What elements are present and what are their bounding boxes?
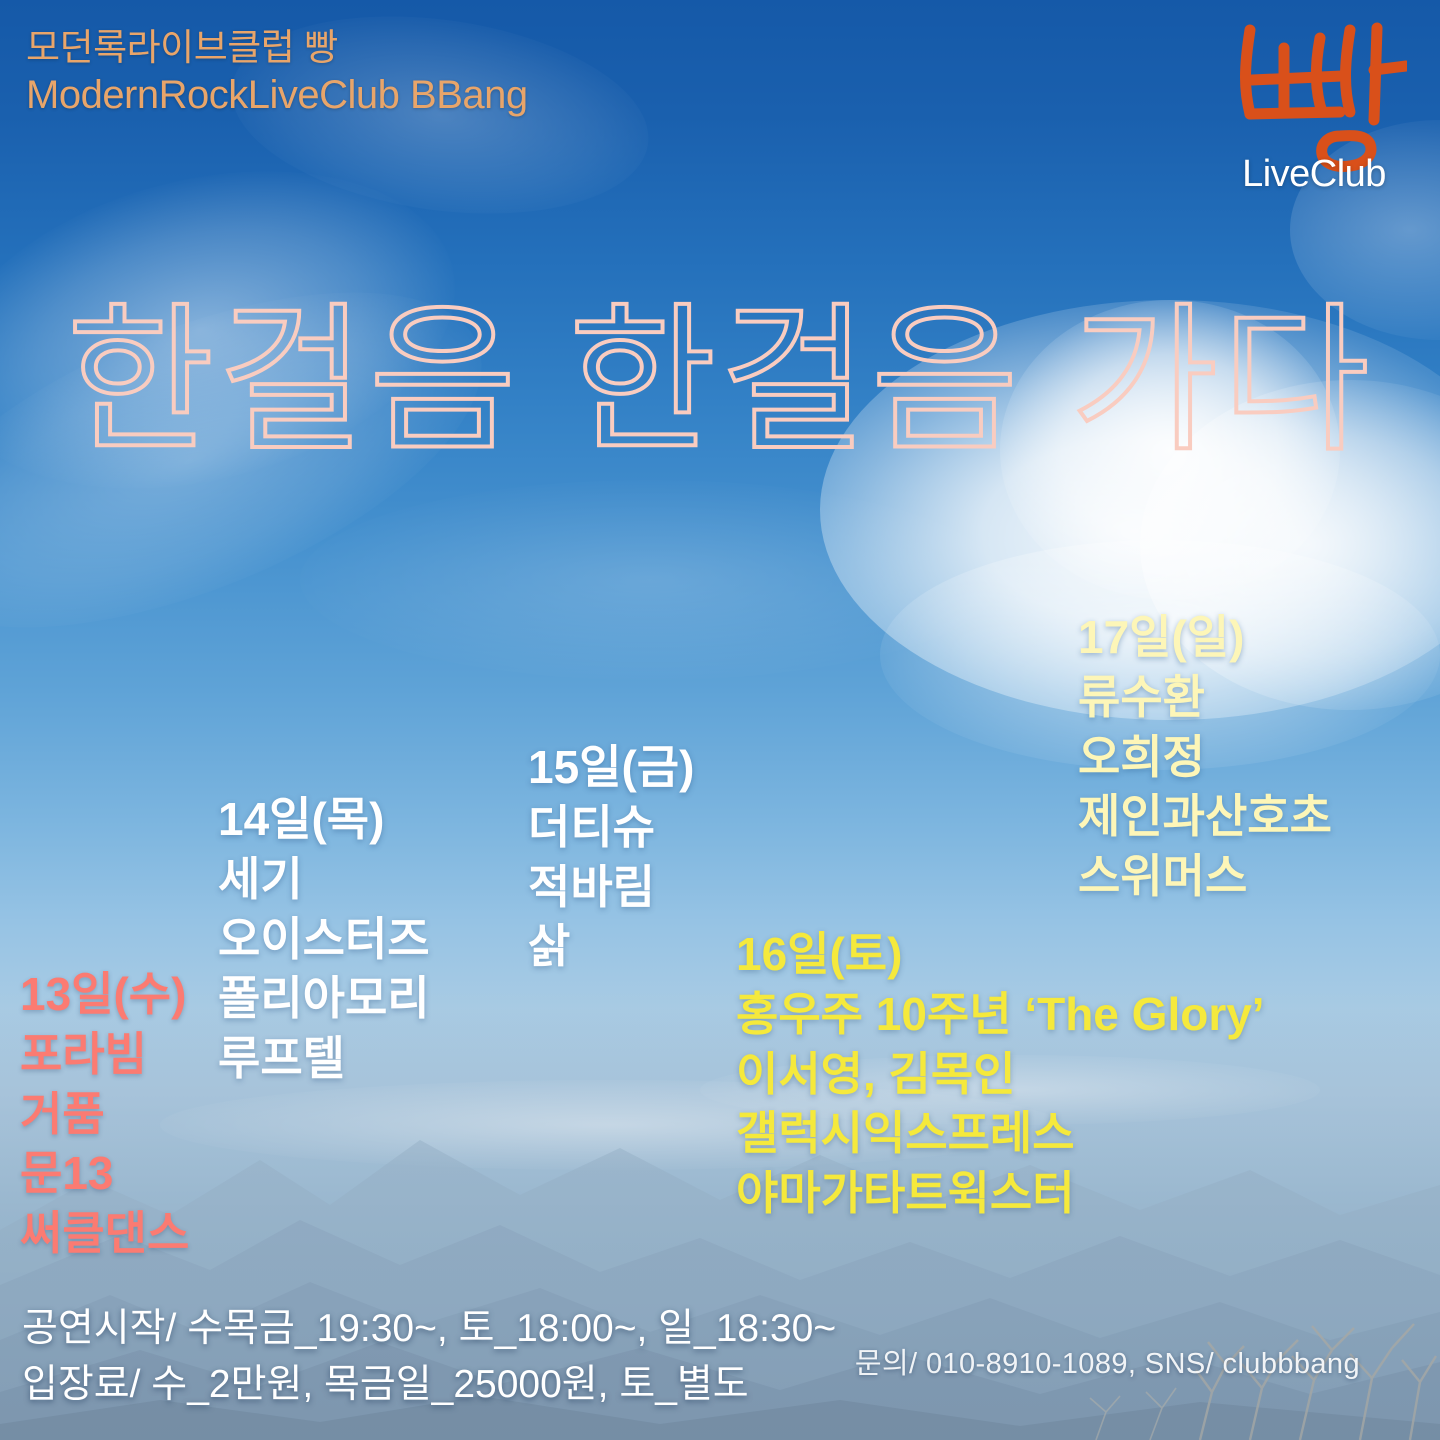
lineup-day-17: 17일(일) 류수환 오희정 제인과산호초 스위머스 xyxy=(1078,608,1332,907)
lineup-day-16: 16일(토) 홍우주 10주년 ‘The Glory’ 이서영, 김목인 갤럭시… xyxy=(736,925,1265,1224)
lineup-day-15: 15일(금) 더티슈 적바림 삵 xyxy=(528,738,694,977)
lineup-act: 문13 xyxy=(20,1144,189,1204)
lineup-act: 제인과산호초 xyxy=(1078,787,1332,847)
lineup-date-16: 16일(토) xyxy=(736,925,1265,985)
lineup-act: 써클댄스 xyxy=(20,1204,189,1264)
lineup-date-14: 14일(목) xyxy=(218,790,430,850)
lineup-act: 더티슈 xyxy=(528,798,694,858)
price-line: 입장료/ 수_2만원, 목금일_25000원, 토_별도 xyxy=(22,1357,836,1412)
lineup-act: 야마가타트윅스터 xyxy=(736,1164,1265,1224)
footer-details: 공연시작/ 수목금_19:30~, 토_18:00~, 일_18:30~ 입장료… xyxy=(22,1301,836,1412)
lineup-date-17: 17일(일) xyxy=(1078,608,1332,668)
venue-name-english: ModernRockLiveClub BBang xyxy=(26,72,528,119)
cloud-mid-haze-icon xyxy=(300,480,1000,680)
lineup-act: 세기 xyxy=(218,850,430,910)
lineup-act: 갤럭시익스프레스 xyxy=(736,1104,1265,1164)
showtime-line: 공연시작/ 수목금_19:30~, 토_18:00~, 일_18:30~ xyxy=(22,1301,836,1356)
bbang-logo-icon xyxy=(1222,8,1407,173)
lineup-act: 홍우주 10주년 ‘The Glory’ xyxy=(736,985,1265,1045)
lineup-date-13: 13일(수) xyxy=(20,965,189,1025)
lineup-act: 스위머스 xyxy=(1078,847,1332,907)
lineup-day-14: 14일(목) 세기 오이스터즈 폴리아모리 루프텔 xyxy=(218,790,430,1089)
lineup-act: 오희정 xyxy=(1078,728,1332,788)
event-poster: 모던록라이브클럽 빵 ModernRockLiveClub BBang xyxy=(0,0,1440,1440)
venue-logo: LiveClub xyxy=(1214,8,1414,196)
lineup-act: 적바림 xyxy=(528,858,694,918)
lineup-date-15: 15일(금) xyxy=(528,738,694,798)
lineup-day-13: 13일(수) 포라빔 거품 문13 써클댄스 xyxy=(20,965,189,1264)
lineup-act: 류수환 xyxy=(1078,668,1332,728)
venue-header: 모던록라이브클럽 빵 ModernRockLiveClub BBang xyxy=(26,26,528,119)
contact-line: 문의/ 010-8910-1089, SNS/ clubbbang xyxy=(855,1340,1360,1382)
lineup-act: 포라빔 xyxy=(20,1025,189,1085)
lineup-act: 오이스터즈 xyxy=(218,910,430,970)
lineup-act: 이서영, 김목인 xyxy=(736,1045,1265,1105)
lineup-act: 삵 xyxy=(528,917,694,977)
lineup-act: 루프텔 xyxy=(218,1029,430,1089)
logo-subtitle: LiveClub xyxy=(1214,153,1414,196)
lineup-act: 거품 xyxy=(20,1085,189,1145)
venue-name-korean: 모던록라이브클럽 빵 xyxy=(26,26,528,70)
lineup-act: 폴리아모리 xyxy=(218,969,430,1029)
poster-main-title: 한걸음 한걸음 가다 xyxy=(0,296,1440,466)
